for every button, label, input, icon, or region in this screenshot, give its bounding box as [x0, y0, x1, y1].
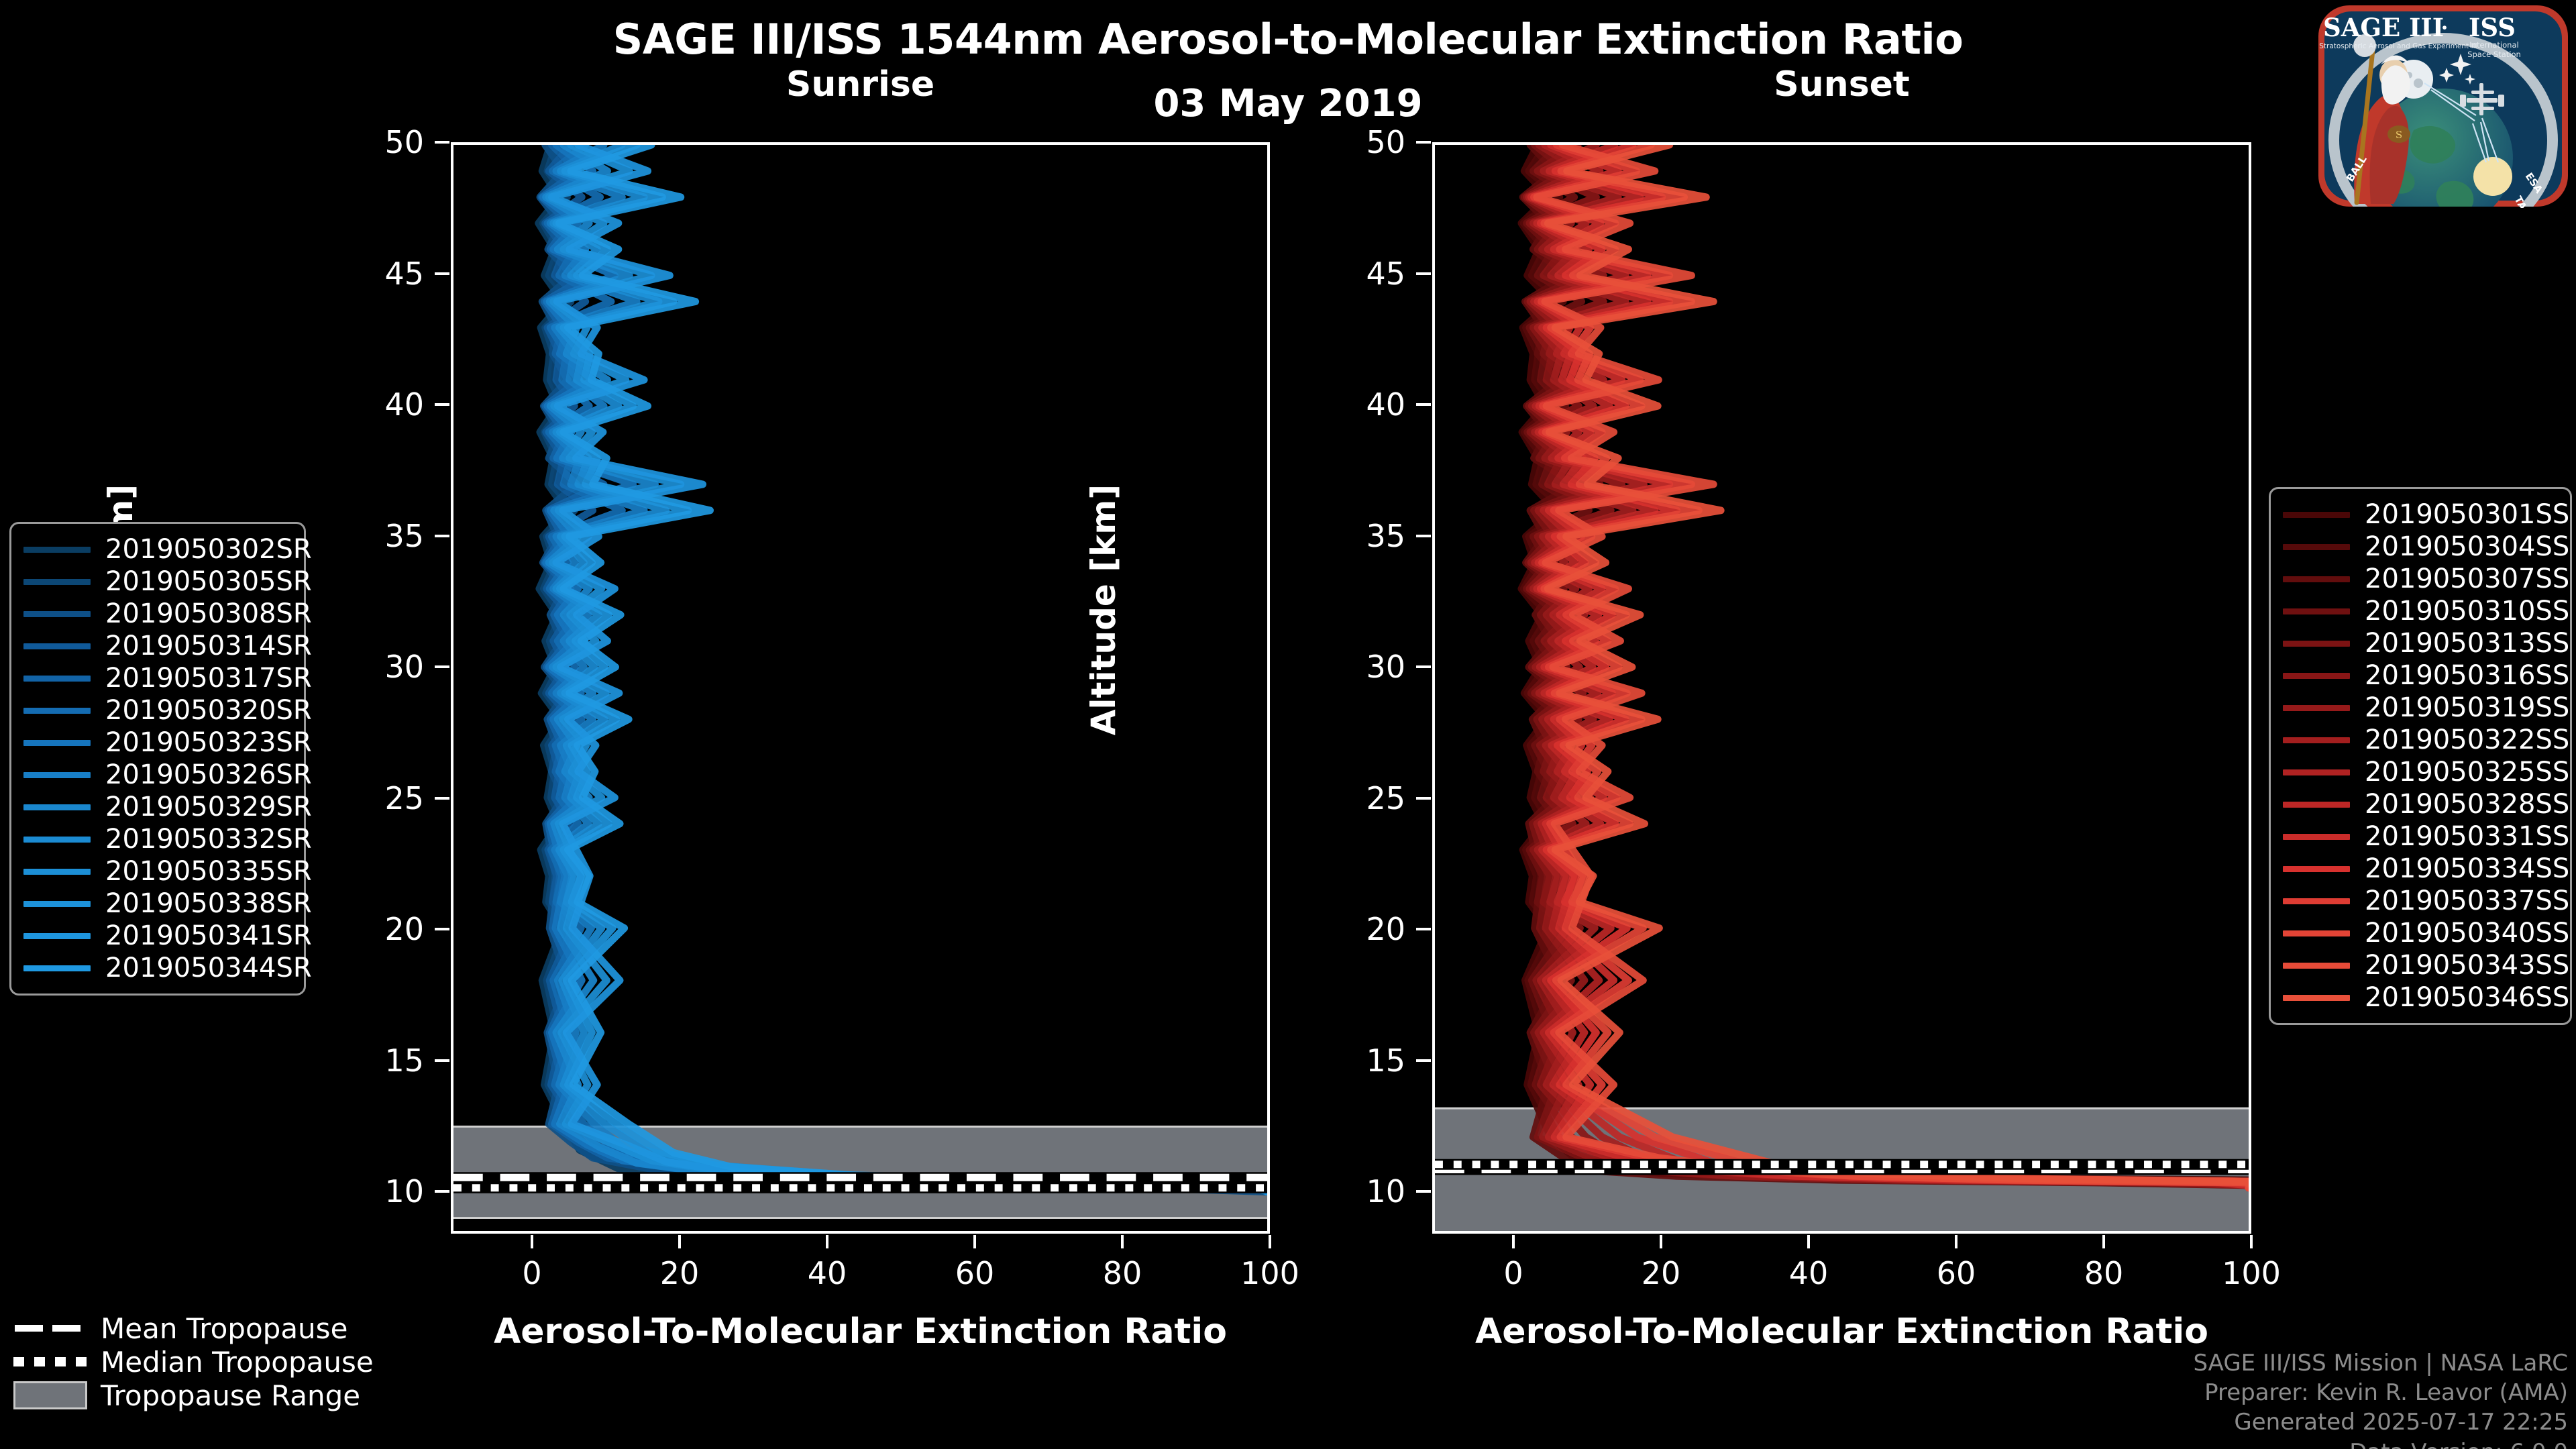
y-tick-label: 10 — [1298, 1173, 1405, 1210]
y-tick-label: 40 — [317, 386, 424, 423]
legend-color-swatch — [2283, 930, 2350, 936]
legend-label-tropopause-range: Tropopause Range — [101, 1379, 360, 1412]
legend-tropopause: Mean Tropopause Median Tropopause Tropop… — [13, 1311, 374, 1412]
y-tick-mark — [435, 141, 449, 144]
y-tick-label: 25 — [1298, 780, 1405, 816]
legend-item-label: 2019050316SS — [2365, 660, 2569, 691]
legend-item-label: 2019050329SR — [105, 792, 312, 822]
x-tick-mark — [2102, 1235, 2105, 1248]
legend-label-median-tropopause: Median Tropopause — [101, 1346, 374, 1379]
x-tick-label: 60 — [955, 1255, 995, 1291]
legend-item-label: 2019050301SS — [2365, 499, 2569, 530]
logo-subtitle-right-1: International — [2469, 40, 2518, 50]
legend-item-label: 2019050332SR — [105, 824, 312, 855]
legend-item-label: 2019050338SR — [105, 888, 312, 919]
legend-item-label: 2019050337SS — [2365, 885, 2569, 916]
legend-item[interactable]: 2019050341SR — [23, 920, 292, 952]
legend-item-label: 2019050328SS — [2365, 789, 2569, 820]
legend-color-swatch — [23, 579, 91, 585]
legend-item[interactable]: 2019050329SR — [23, 791, 292, 823]
legend-item-label: 2019050334SS — [2365, 853, 2569, 884]
legend-color-swatch — [23, 869, 91, 875]
legend-item-label: 2019050346SS — [2365, 982, 2569, 1013]
legend-color-swatch — [2283, 769, 2350, 775]
legend-color-swatch — [23, 676, 91, 682]
y-tick-label: 50 — [317, 124, 424, 160]
y-tick-mark — [435, 403, 449, 406]
legend-label-mean-tropopause: Mean Tropopause — [101, 1312, 347, 1345]
x-tick-mark — [1512, 1235, 1515, 1248]
legend-color-swatch — [23, 933, 91, 939]
svg-text:S: S — [2396, 129, 2402, 141]
legend-item[interactable]: 2019050338SR — [23, 888, 292, 920]
y-tick-mark — [435, 272, 449, 275]
legend-color-swatch — [2283, 995, 2350, 1001]
sunrise-profile-svg — [453, 145, 1267, 1231]
y-tick-label: 10 — [317, 1173, 424, 1210]
y-tick-mark — [435, 535, 449, 537]
x-tick-mark — [826, 1235, 828, 1248]
legend-color-swatch — [2283, 866, 2350, 872]
x-tick-mark — [678, 1235, 681, 1248]
legend-color-swatch — [23, 965, 91, 971]
y-tick-mark — [1416, 928, 1431, 930]
legend-color-swatch — [23, 708, 91, 714]
y-tick-mark — [1416, 797, 1431, 800]
legend-color-swatch — [2283, 576, 2350, 582]
legend-item-label: 2019050323SR — [105, 727, 312, 758]
figure-root: SAGE III/ISS 1544nm Aerosol-to-Molecular… — [0, 0, 2576, 1449]
y-tick-label: 35 — [1298, 518, 1405, 554]
legend-item-label: 2019050310SS — [2365, 596, 2569, 627]
x-tick-mark — [1269, 1235, 1271, 1248]
legend-color-swatch — [23, 740, 91, 746]
panel-title-sunrise: Sunrise — [451, 64, 1270, 105]
credits-block: SAGE III/ISS Mission | NASA LaRC Prepare… — [2193, 1348, 2568, 1449]
legend-item-label: 2019050304SS — [2365, 531, 2569, 562]
x-tick-label: 60 — [1937, 1255, 1976, 1291]
x-tick-label: 100 — [2222, 1255, 2281, 1291]
legend-color-swatch — [2283, 802, 2350, 808]
y-tick-label: 35 — [317, 518, 424, 554]
legend-item-label: 2019050326SR — [105, 759, 312, 790]
legend-item-label: 2019050343SS — [2365, 950, 2569, 981]
y-tick-mark — [435, 797, 449, 800]
plot-area-sunrise[interactable] — [451, 142, 1270, 1234]
y-tick-label: 40 — [1298, 386, 1405, 423]
y-tick-label: 15 — [317, 1042, 424, 1079]
legend-item[interactable]: 2019050308SR — [23, 598, 292, 630]
legend-sunrise[interactable]: 2019050302SR2019050305SR2019050308SR2019… — [9, 522, 306, 996]
y-tick-label: 25 — [317, 780, 424, 816]
legend-item[interactable]: 2019050313SS — [2283, 627, 2558, 659]
legend-item-label: 2019050335SR — [105, 856, 312, 887]
x-tick-label: 0 — [1503, 1255, 1523, 1291]
legend-color-swatch — [23, 611, 91, 617]
legend-color-swatch — [2283, 898, 2350, 904]
legend-color-swatch — [2283, 512, 2350, 518]
y-axis-label-sunset: Altitude [km] — [1084, 455, 1123, 764]
y-tick-mark — [435, 665, 449, 668]
x-tick-label: 0 — [522, 1255, 541, 1291]
legend-item[interactable]: 2019050323SR — [23, 727, 292, 759]
y-tick-mark — [1416, 272, 1431, 275]
legend-color-swatch — [23, 901, 91, 907]
credits-mission: SAGE III/ISS Mission | NASA LaRC — [2193, 1348, 2568, 1378]
legend-item-label: 2019050308SR — [105, 598, 312, 629]
legend-color-swatch — [23, 772, 91, 778]
y-tick-label: 50 — [1298, 124, 1405, 160]
legend-item[interactable]: 2019050332SR — [23, 823, 292, 855]
dotted-line-icon — [13, 1352, 87, 1372]
x-tick-label: 40 — [1789, 1255, 1829, 1291]
dashed-line-icon — [13, 1318, 87, 1338]
legend-item[interactable]: 2019050317SR — [23, 662, 292, 694]
panel-title-sunset: Sunset — [1432, 64, 2251, 105]
logo-iss-text: ISS — [2469, 13, 2516, 42]
figure-title: SAGE III/ISS 1544nm Aerosol-to-Molecular… — [0, 15, 2576, 64]
y-tick-label: 45 — [1298, 256, 1405, 292]
legend-color-swatch — [2283, 834, 2350, 840]
x-axis-label-sunrise: Aerosol-To-Molecular Extinction Ratio — [451, 1311, 1270, 1352]
mission-patch-icon: S SAGE III · ISS Stratospheric Aerosol a… — [2313, 3, 2573, 208]
y-tick-mark — [435, 1059, 449, 1062]
plot-area-sunset[interactable] — [1432, 142, 2251, 1234]
legend-item-label: 2019050322SS — [2365, 724, 2569, 755]
y-tick-mark — [1416, 1059, 1431, 1062]
legend-color-swatch — [23, 547, 91, 553]
x-tick-label: 80 — [1103, 1255, 1142, 1291]
x-tick-label: 100 — [1240, 1255, 1299, 1291]
y-tick-label: 20 — [317, 911, 424, 947]
legend-color-swatch — [2283, 705, 2350, 711]
legend-item-label: 2019050341SR — [105, 920, 312, 951]
legend-item[interactable]: 2019050337SS — [2283, 885, 2558, 917]
legend-item-label: 2019050317SR — [105, 663, 312, 694]
legend-item[interactable]: 2019050334SS — [2283, 853, 2558, 885]
x-tick-mark — [1955, 1235, 1957, 1248]
legend-item[interactable]: 2019050319SS — [2283, 692, 2558, 724]
legend-item-label: 2019050307SS — [2365, 563, 2569, 594]
credits-data-version: Data Version: 6.0.0 — [2193, 1438, 2568, 1449]
x-tick-mark — [1807, 1235, 1810, 1248]
svg-text:·: · — [2441, 16, 2449, 40]
y-tick-label: 30 — [317, 649, 424, 685]
legend-item-label: 2019050325SS — [2365, 757, 2569, 788]
y-tick-label: 30 — [1298, 649, 1405, 685]
sage-iii-iss-logo: S SAGE III · ISS Stratospheric Aerosol a… — [2313, 3, 2573, 208]
legend-item-median-tropopause[interactable]: Median Tropopause — [13, 1345, 374, 1379]
legend-item[interactable]: 2019050316SS — [2283, 659, 2558, 692]
x-tick-mark — [973, 1235, 976, 1248]
profile-line — [556, 145, 1267, 1187]
y-tick-label: 45 — [317, 256, 424, 292]
legend-color-swatch — [2283, 737, 2350, 743]
y-tick-mark — [1416, 665, 1431, 668]
legend-item[interactable]: 2019050305SR — [23, 566, 292, 598]
legend-item-label: 2019050313SS — [2365, 628, 2569, 659]
x-tick-mark — [1121, 1235, 1124, 1248]
y-tick-mark — [1416, 403, 1431, 406]
credits-preparer: Preparer: Kevin R. Leavor (AMA) — [2193, 1378, 2568, 1407]
x-tick-label: 80 — [2084, 1255, 2124, 1291]
y-tick-mark — [435, 1190, 449, 1193]
y-tick-mark — [1416, 535, 1431, 537]
legend-color-swatch — [2283, 641, 2350, 647]
legend-item[interactable]: 2019050344SR — [23, 952, 292, 984]
legend-color-swatch — [23, 804, 91, 810]
legend-item[interactable]: 2019050302SR — [23, 533, 292, 566]
x-tick-mark — [2250, 1235, 2253, 1248]
logo-subtitle-right-2: Space Station — [2467, 50, 2521, 59]
legend-sunset[interactable]: 2019050301SS2019050304SS2019050307SS2019… — [2269, 487, 2572, 1025]
band-swatch-icon — [13, 1381, 87, 1409]
legend-item-label: 2019050314SR — [105, 631, 312, 661]
legend-item-mean-tropopause[interactable]: Mean Tropopause — [13, 1311, 374, 1345]
legend-item[interactable]: 2019050310SS — [2283, 595, 2558, 627]
legend-item-label: 2019050320SR — [105, 695, 312, 726]
logo-subtitle-left: Stratospheric Aerosol and Gas Experiment… — [2319, 42, 2477, 50]
legend-item-tropopause-range[interactable]: Tropopause Range — [13, 1379, 374, 1412]
legend-item[interactable]: 2019050346SS — [2283, 981, 2558, 1014]
legend-item[interactable]: 2019050304SS — [2283, 531, 2558, 563]
legend-color-swatch — [23, 837, 91, 843]
y-tick-label: 15 — [1298, 1042, 1405, 1079]
logo-sage-text: SAGE III — [2323, 13, 2444, 42]
legend-item[interactable]: 2019050340SS — [2283, 917, 2558, 949]
legend-item[interactable]: 2019050328SS — [2283, 788, 2558, 820]
legend-item-label: 2019050319SS — [2365, 692, 2569, 723]
x-tick-mark — [531, 1235, 533, 1248]
legend-item[interactable]: 2019050314SR — [23, 630, 292, 662]
legend-item[interactable]: 2019050301SS — [2283, 498, 2558, 531]
x-tick-label: 20 — [660, 1255, 700, 1291]
legend-item[interactable]: 2019050320SR — [23, 694, 292, 727]
legend-item-label: 2019050302SR — [105, 534, 312, 565]
legend-item-label: 2019050340SS — [2365, 918, 2569, 949]
x-tick-label: 40 — [808, 1255, 847, 1291]
legend-item-label: 2019050331SS — [2365, 821, 2569, 852]
legend-item[interactable]: 2019050307SS — [2283, 563, 2558, 595]
credits-generated: Generated 2025-07-17 22:25 — [2193, 1407, 2568, 1437]
legend-item[interactable]: 2019050331SS — [2283, 820, 2558, 853]
y-tick-label: 20 — [1298, 911, 1405, 947]
y-tick-mark — [1416, 1190, 1431, 1193]
legend-color-swatch — [23, 643, 91, 649]
legend-item[interactable]: 2019050343SS — [2283, 949, 2558, 981]
x-tick-label: 20 — [1642, 1255, 1681, 1291]
profile-line — [1537, 145, 2249, 1184]
y-tick-mark — [1416, 141, 1431, 144]
legend-item-label: 2019050305SR — [105, 566, 312, 597]
x-tick-mark — [1660, 1235, 1662, 1248]
legend-color-swatch — [2283, 544, 2350, 550]
legend-item[interactable]: 2019050322SS — [2283, 724, 2558, 756]
legend-color-swatch — [2283, 673, 2350, 679]
x-axis-label-sunset: Aerosol-To-Molecular Extinction Ratio — [1432, 1311, 2251, 1352]
legend-item-label: 2019050344SR — [105, 953, 312, 983]
legend-color-swatch — [2283, 608, 2350, 614]
legend-item[interactable]: 2019050335SR — [23, 855, 292, 888]
legend-color-swatch — [2283, 963, 2350, 969]
legend-item[interactable]: 2019050325SS — [2283, 756, 2558, 788]
legend-item[interactable]: 2019050326SR — [23, 759, 292, 791]
y-tick-mark — [435, 928, 449, 930]
sunset-profile-svg — [1435, 145, 2249, 1231]
